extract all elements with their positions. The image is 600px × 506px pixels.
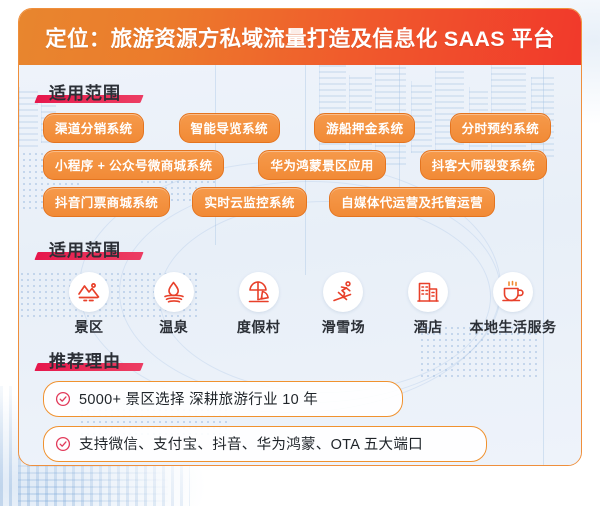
product-tag[interactable]: 抖客大师裂变系统 [420,150,547,180]
skier-icon [323,272,363,312]
scope-item-label: 滑雪场 [322,317,366,337]
beach-umbrella-icon [239,272,279,312]
section-heading-products: 适用范围 [43,79,133,104]
section-heading-scope: 适用范围 [43,236,133,261]
scope-item-resort[interactable]: 度假村 [217,272,301,337]
scope-item-label: 温泉 [159,317,188,337]
card-body: 适用范围 渠道分销系统 智能导览系统 游船押金系统 分时预约系统 小程序 + 公… [19,65,581,465]
promo-card: 定位：旅游资源方私域流量打造及信息化 SAAS 平台 [18,8,582,466]
mountain-icon [69,272,109,312]
product-tag-list: 渠道分销系统 智能导览系统 游船押金系统 分时预约系统 小程序 + 公众号微商城… [35,113,565,217]
product-tag[interactable]: 华为鸿蒙景区应用 [258,150,385,180]
product-tag-row: 抖音门票商城系统 实时云监控系统 自媒体代运营及托管运营 [35,187,565,217]
reason-list: 5000+ 景区选择 深耕旅游行业 10 年 支持微信、支付宝、抖音、华为鸿蒙、… [33,381,567,465]
section-heading-scope-label: 适用范围 [49,241,121,260]
reason-row[interactable]: 5000+ 景区选择 深耕旅游行业 10 年 [43,381,403,417]
coffee-cup-icon [493,272,533,312]
section-heading-reasons: 推荐理由 [43,347,133,372]
card-header: 定位：旅游资源方私域流量打造及信息化 SAAS 平台 [19,9,581,65]
product-tag[interactable]: 智能导览系统 [179,113,280,143]
check-circle-icon [55,436,71,452]
section-heading-products-label: 适用范围 [49,84,121,103]
product-tag-row: 小程序 + 公众号微商城系统 华为鸿蒙景区应用 抖客大师裂变系统 [35,150,565,180]
card-content: 适用范围 渠道分销系统 智能导览系统 游船押金系统 分时预约系统 小程序 + 公… [19,65,581,465]
reason-text: 5000+ 景区选择 深耕旅游行业 10 年 [79,388,318,409]
scope-item-hot-spring[interactable]: 温泉 [132,272,216,337]
product-tag-row: 渠道分销系统 智能导览系统 游船押金系统 分时预约系统 [35,113,565,143]
page-title: 定位：旅游资源方私域流量打造及信息化 SAAS 平台 [45,22,554,53]
scope-item-scenic-area[interactable]: 景区 [47,272,131,337]
scope-item-label: 本地生活服务 [469,317,556,337]
scope-item-ski-resort[interactable]: 滑雪场 [301,272,385,337]
scope-item-hotel[interactable]: 酒店 [386,272,470,337]
product-tag[interactable]: 实时云监控系统 [192,187,306,217]
check-circle-icon [55,391,71,407]
product-tag[interactable]: 分时预约系统 [450,113,551,143]
reason-text: 支持微信、支付宝、抖音、华为鸿蒙、OTA 五大端口 [79,433,423,454]
building-icon [408,272,448,312]
scope-item-label: 景区 [75,317,104,337]
scope-item-label: 度假村 [237,317,281,337]
scope-item-label: 酒店 [414,317,443,337]
product-tag[interactable]: 小程序 + 公众号微商城系统 [43,150,224,180]
section-heading-reasons-label: 推荐理由 [49,352,121,371]
hot-spring-icon [154,272,194,312]
scope-item-list: 景区 温泉 [33,270,567,337]
product-tag[interactable]: 自媒体代运营及托管运营 [329,187,495,217]
reason-row[interactable]: 支持微信、支付宝、抖音、华为鸿蒙、OTA 五大端口 [43,426,487,462]
product-tag[interactable]: 游船押金系统 [314,113,415,143]
product-tag[interactable]: 抖音门票商城系统 [43,187,170,217]
scope-item-local-life-services[interactable]: 本地生活服务 [471,272,555,337]
product-tag[interactable]: 渠道分销系统 [43,113,144,143]
